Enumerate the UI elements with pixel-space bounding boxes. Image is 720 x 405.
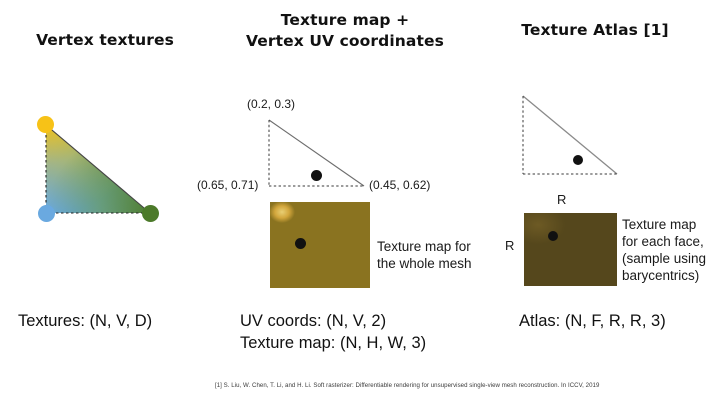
top-yellow-vertex: [37, 116, 54, 133]
heading-line-1: Texture Atlas [1]: [490, 20, 700, 41]
heading-line-1: Vertex textures: [0, 30, 210, 51]
atlas-sample-point-on-triangle: [573, 155, 583, 165]
vertex-textures-shape-line-1: Textures: (N, V, D): [18, 310, 152, 332]
uv-shape-line-2: Texture map: (N, H, W, 3): [240, 332, 426, 354]
sampled-uv-point-on-texture: [295, 238, 306, 249]
atlas-shape-label: Atlas: (N, F, R, R, 3): [519, 310, 666, 332]
heading-line-1: Texture map +: [225, 10, 465, 31]
uv-label-bottom-right: (0.45, 0.62): [369, 178, 430, 192]
uv-texture-caption: Texture map for the whole mesh: [377, 238, 507, 272]
slide-canvas: Vertex textures Textures: (N, V, D) Text…: [0, 0, 720, 405]
bottom-left-blue-vertex: [38, 205, 55, 222]
atlas-axis-label-left: R: [505, 238, 514, 253]
uv-label-top: (0.2, 0.3): [247, 97, 295, 111]
atlas-sample-point-on-texture: [548, 231, 558, 241]
atlas-caption-line-1: Texture map: [622, 216, 720, 233]
atlas-caption-line-4: barycentrics): [622, 267, 720, 284]
atlas-axis-label-top: R: [557, 192, 566, 207]
heading-line-2: Vertex UV coordinates: [225, 31, 465, 52]
atlas-caption: Texture map for each face, (sample using…: [622, 216, 720, 284]
atlas-caption-line-3: (sample using: [622, 250, 720, 267]
atlas-triangle-outline: [523, 96, 617, 174]
bottom-right-green-vertex: [142, 205, 159, 222]
uv-texture-caption-line-2: the whole mesh: [377, 255, 507, 272]
citation-footnote: [1] S. Liu, W. Chen, T. Li, and H. Li. S…: [215, 382, 599, 389]
column-heading-vertex-textures: Vertex textures: [0, 30, 210, 51]
uv-shape-line-1: UV coords: (N, V, 2): [240, 310, 426, 332]
per-face-atlas-texture: [524, 213, 617, 286]
uv-texture-caption-line-1: Texture map for: [377, 238, 507, 255]
sampled-uv-point-on-triangle: [311, 170, 322, 181]
pineapple-texture-map: [270, 202, 370, 288]
uv-label-bottom-left: (0.65, 0.71): [197, 178, 258, 192]
atlas-caption-line-2: for each face,: [622, 233, 720, 250]
vertex-textures-triangle: [46, 125, 150, 213]
vertex-textures-shape-label: Textures: (N, V, D): [18, 310, 152, 332]
column-heading-texture-map-uv: Texture map + Vertex UV coordinates: [225, 10, 465, 52]
atlas-shape-line-1: Atlas: (N, F, R, R, 3): [519, 310, 666, 332]
uv-shape-label: UV coords: (N, V, 2) Texture map: (N, H,…: [240, 310, 426, 355]
column-heading-texture-atlas: Texture Atlas [1]: [490, 20, 700, 41]
